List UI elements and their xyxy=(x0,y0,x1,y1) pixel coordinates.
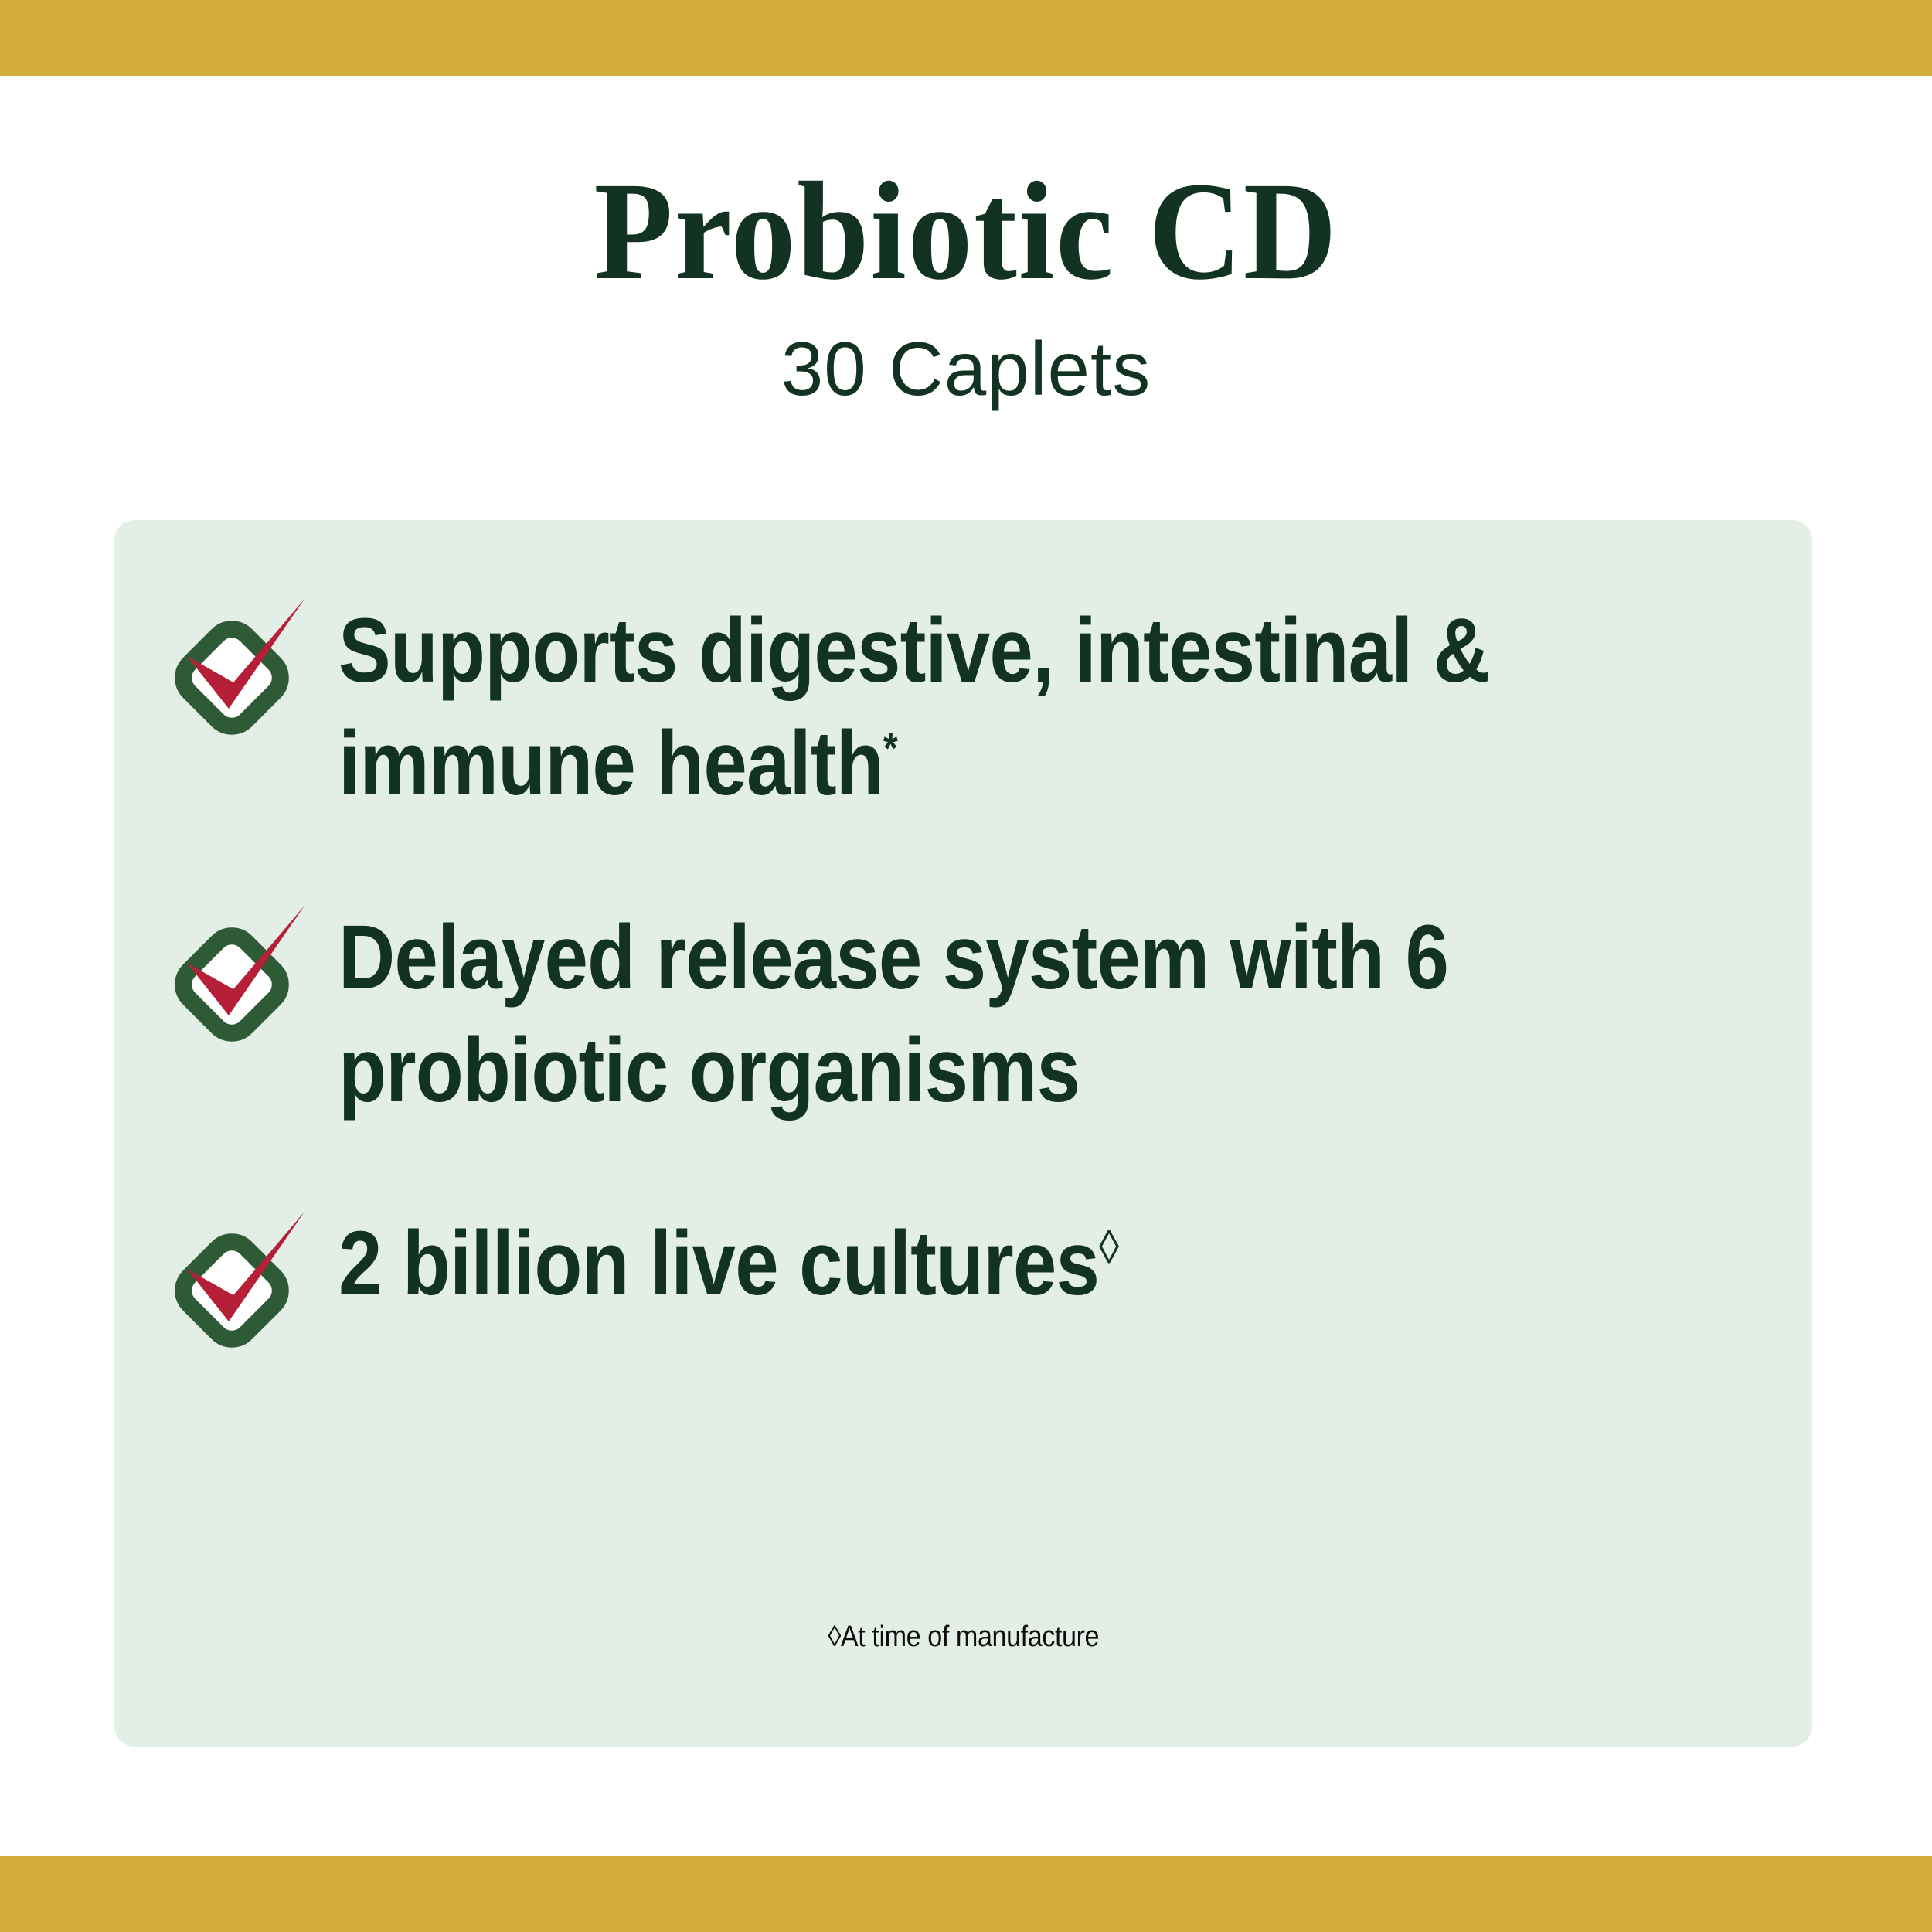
header-block: Probiotic CD 30 Caplets xyxy=(0,158,1932,411)
benefits-panel: Supports digestive, intestinal & immune … xyxy=(114,520,1812,1747)
benefit-text-body: 2 billion live cultures xyxy=(338,1213,1099,1315)
page-title: Probiotic CD xyxy=(77,158,1855,304)
footnote: ◊At time of manufacture xyxy=(114,1621,1812,1654)
list-item: Delayed release system with 6 probiotic … xyxy=(168,901,1758,1128)
check-diamond-icon xyxy=(168,599,309,736)
list-item: 2 billion live cultures◊ xyxy=(168,1207,1758,1349)
check-diamond-icon xyxy=(168,906,309,1043)
footnote-text: ◊At time of manufacture xyxy=(828,1621,1099,1654)
gold-rule-bottom xyxy=(0,1856,1932,1932)
product-feature-card: Probiotic CD 30 Caplets Supports digesti… xyxy=(0,0,1932,1932)
benefit-text-body: Delayed release system with 6 probiotic … xyxy=(338,906,1448,1121)
benefit-superscript: * xyxy=(883,725,897,774)
check-diamond-icon xyxy=(168,1212,309,1349)
benefit-label: Delayed release system with 6 probiotic … xyxy=(338,901,1560,1128)
benefit-label: Supports digestive, intestinal & immune … xyxy=(338,594,1560,821)
benefit-label: 2 billion live cultures◊ xyxy=(338,1207,1118,1320)
benefit-text-body: Supports digestive, intestinal & immune … xyxy=(338,600,1489,815)
product-count-subtitle: 30 Caplets xyxy=(0,328,1932,411)
list-item: Supports digestive, intestinal & immune … xyxy=(168,594,1758,821)
gold-rule-top xyxy=(0,0,1932,76)
benefit-list: Supports digestive, intestinal & immune … xyxy=(168,594,1758,1349)
benefit-superscript: ◊ xyxy=(1099,1221,1118,1274)
